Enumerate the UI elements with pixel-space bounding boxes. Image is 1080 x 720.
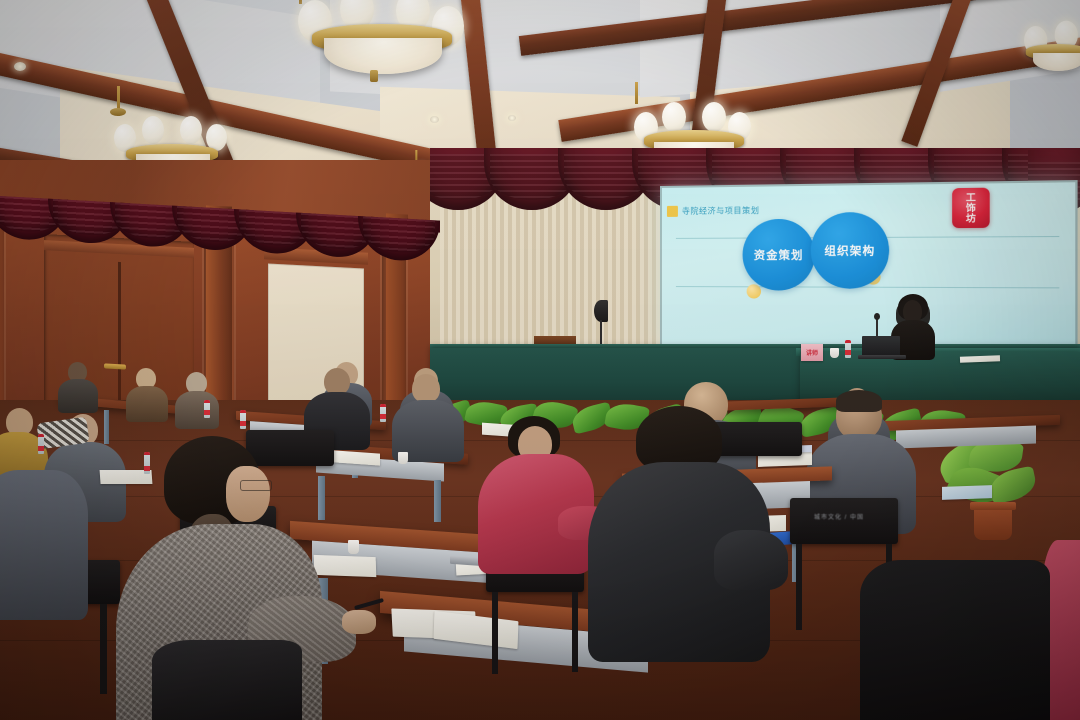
foreground-chair-mass (860, 560, 1050, 720)
water-bottle (240, 410, 246, 429)
seal-char-1: 工 (966, 192, 976, 203)
hand (342, 610, 376, 634)
seal-char-3: 坊 (966, 213, 976, 224)
slide-bubble-2: 组织架构 (811, 212, 889, 289)
brand-seal-icon: 工 饰 坊 (952, 188, 990, 228)
recessed-downlight-icon (430, 116, 439, 123)
recessed-downlight-icon (508, 115, 516, 121)
puffer-arm (714, 530, 788, 590)
chair-back[interactable] (790, 498, 898, 544)
desk-leg (104, 410, 109, 444)
slide-header-accent-icon (667, 206, 678, 217)
name-placard-text: 讲师 (806, 348, 818, 357)
seal-char-2: 饰 (966, 203, 976, 214)
slide-bubble-2-label: 组织架构 (824, 242, 875, 259)
projection-screen: 寺院经济与项目策划 资金策划 组织架构 工 饰 坊 (660, 180, 1078, 354)
chair-leg (492, 592, 498, 674)
paper-cup (348, 540, 359, 554)
chair-leg (796, 544, 802, 630)
slide-header: 寺院经济与项目策划 (667, 205, 760, 217)
name-placard: 讲师 (801, 344, 823, 361)
water-bottle (380, 404, 386, 422)
slide-header-text: 寺院经济与项目策划 (682, 205, 760, 217)
water-bottle (204, 400, 210, 418)
foreground-chair-mass (152, 640, 302, 720)
hair (836, 390, 882, 412)
water-bottle (845, 340, 851, 358)
chair-label-plate: 城市文化 / 中国 (808, 512, 870, 520)
chair-back[interactable] (710, 422, 802, 456)
notebook-blue (942, 485, 992, 500)
recessed-downlight-icon (14, 62, 26, 71)
water-bottle (144, 452, 150, 474)
presenter-laptop[interactable] (862, 336, 900, 356)
desk-leg (434, 480, 441, 522)
eyeglasses-icon (240, 480, 272, 491)
stage-loudspeaker (594, 300, 608, 322)
chair-leg (572, 592, 578, 672)
chair-back[interactable] (246, 430, 334, 466)
desk-leg (318, 476, 325, 520)
laptop-base (858, 355, 906, 359)
bubble-accent-dot (747, 284, 761, 298)
water-bottle (38, 434, 44, 454)
notebook (314, 555, 377, 577)
slide-bubble-1-label: 资金策划 (754, 246, 804, 262)
door-handle-icon (104, 363, 126, 369)
face (226, 466, 270, 522)
chair-leg (100, 604, 107, 694)
slide-bubble-1: 资金策划 (743, 219, 815, 291)
paper-cup (398, 452, 408, 464)
paper-cup (830, 348, 839, 358)
conference-hall-photo: 寺院经济与项目策划 资金策划 组织架构 工 饰 坊 讲师 (0, 0, 1080, 720)
